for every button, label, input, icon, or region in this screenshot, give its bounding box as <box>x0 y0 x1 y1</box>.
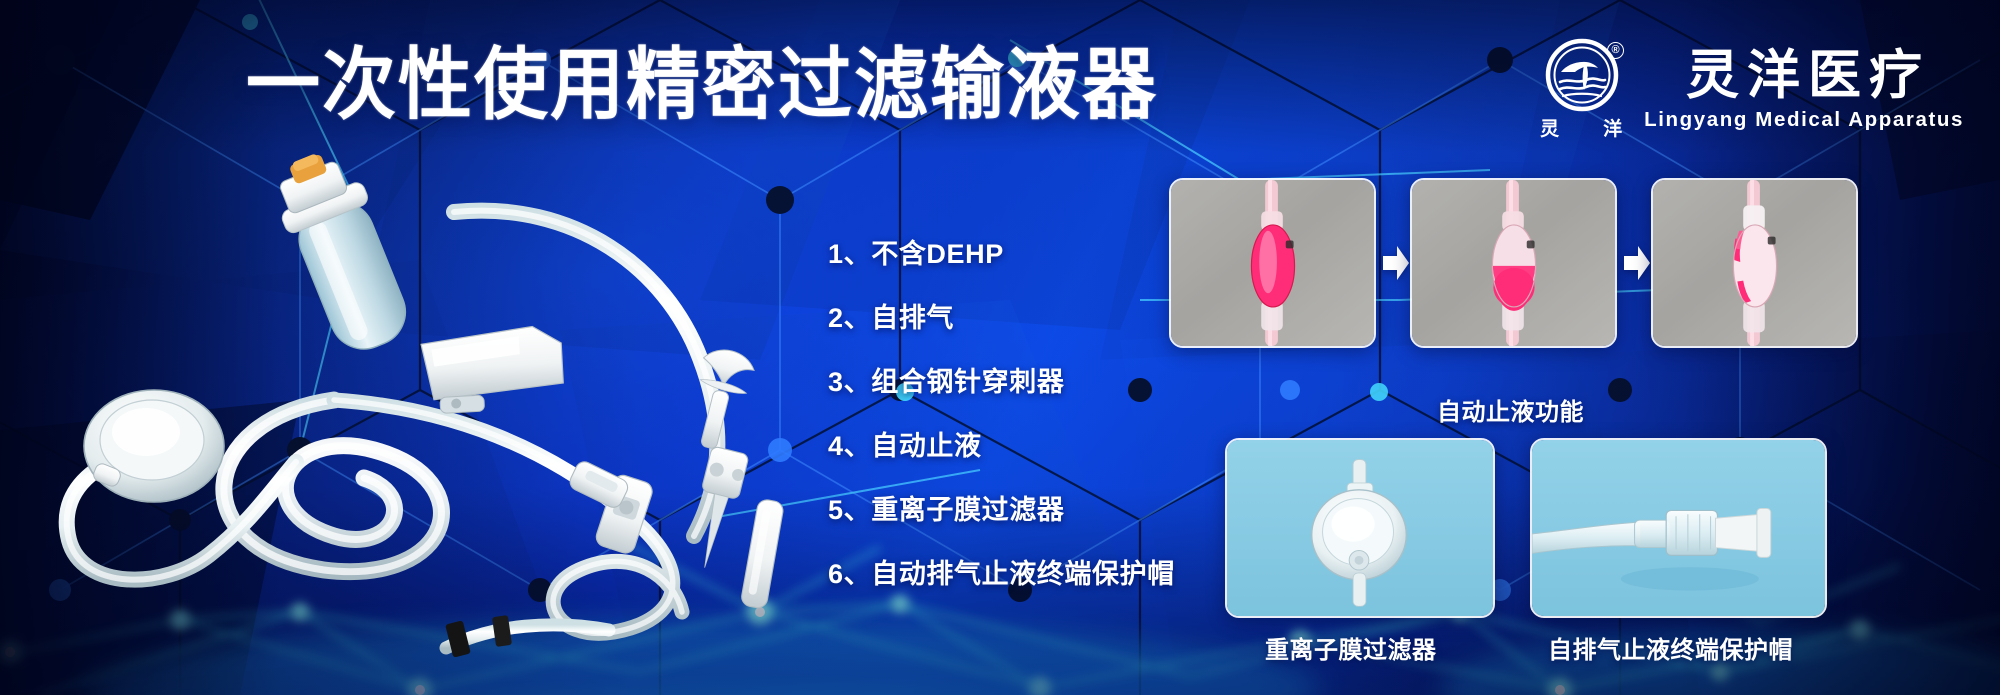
feature-item-3: 3、组合钢针穿刺器 <box>828 360 1175 399</box>
emblem-char-right: 洋 <box>1603 114 1622 141</box>
feature-item-5: 5、重离子膜过滤器 <box>828 488 1175 527</box>
sequence-arrow-2 <box>1622 243 1652 283</box>
product-banner: 一次性使用精密过滤输液器 ® 灵 洋 灵洋医疗 Lingyang Medical… <box>0 0 2000 695</box>
brand-name-cn: 灵洋医疗 <box>1678 48 1930 104</box>
sequence-panel-1 <box>1169 178 1376 348</box>
brand-names: 灵洋医疗 Lingyang Medical Apparatus <box>1644 44 1964 132</box>
logo-emblem: ® 灵 洋 <box>1540 36 1626 140</box>
brand-name-en: Lingyang Medical Apparatus <box>1644 108 1964 132</box>
brand-logo: ® 灵 洋 灵洋医疗 Lingyang Medical Apparatus <box>1540 36 1964 140</box>
detail-panel-filter <box>1225 438 1495 618</box>
sequence-panel-3 <box>1651 178 1858 348</box>
feature-item-6: 6、自动排气止液终端保护帽 <box>828 552 1175 591</box>
feature-list: 1、不含DEHP 2、自排气 3、组合钢针穿刺器 4、自动止液 5、重离子膜过滤… <box>828 232 1175 591</box>
feature-item-4: 4、自动止液 <box>828 424 1175 463</box>
feature-item-1: 1、不含DEHP <box>828 232 1175 271</box>
sequence-arrow-1 <box>1381 243 1411 283</box>
registered-mark: ® <box>1607 42 1624 59</box>
detail-panel-cap <box>1530 438 1827 618</box>
detail-caption-filter: 重离子膜过滤器 <box>1265 630 1437 665</box>
feature-item-2: 2、自排气 <box>828 296 1175 335</box>
hero-product-image <box>34 150 824 660</box>
emblem-char-left: 灵 <box>1540 114 1559 141</box>
sequence-caption: 自动止液功能 <box>1437 392 1584 427</box>
emblem-characters: 灵 洋 <box>1540 114 1622 141</box>
sequence-panel-2 <box>1410 178 1617 348</box>
detail-caption-cap: 自排气止液终端保护帽 <box>1548 630 1793 665</box>
banner-title: 一次性使用精密过滤输液器 <box>246 46 1158 124</box>
